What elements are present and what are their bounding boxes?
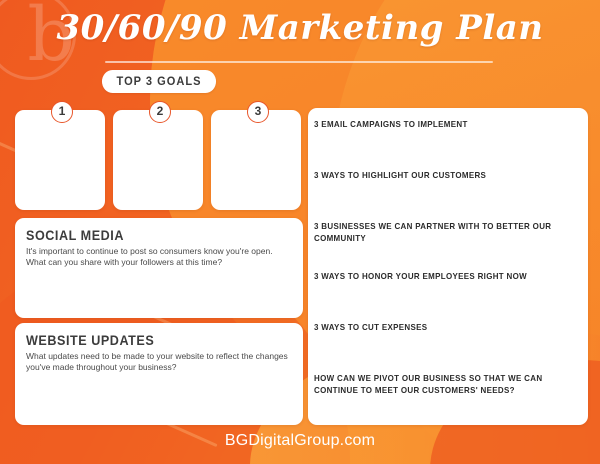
- website-updates-title: WEBSITE UPDATES: [26, 332, 275, 348]
- prompt-item: 3 BUSINESSES WE CAN PARTNER WITH TO BETT…: [314, 220, 565, 244]
- footer-website: BGDigitalGroup.com: [0, 432, 600, 450]
- prompt-item: 3 WAYS TO CUT EXPENSES: [314, 321, 565, 333]
- goal-number-badge-2: 2: [149, 101, 171, 123]
- website-updates-description: What updates need to be made to your web…: [26, 351, 292, 373]
- marketing-plan-poster: b 30/60/90 Marketing Plan TOP 3 GOALS 1 …: [0, 0, 600, 464]
- website-updates-panel[interactable]: WEBSITE UPDATES What updates need to be …: [15, 323, 303, 425]
- prompt-item: 3 WAYS TO HIGHLIGHT OUR CUSTOMERS: [314, 169, 565, 181]
- title-divider: [105, 61, 493, 63]
- goal-box-2[interactable]: [113, 110, 203, 210]
- prompt-item: HOW CAN WE PIVOT OUR BUSINESS SO THAT WE…: [314, 372, 565, 396]
- goal-number-badge-1: 1: [51, 101, 73, 123]
- prompts-panel[interactable]: 3 EMAIL CAMPAIGNS TO IMPLEMENT 3 WAYS TO…: [308, 108, 588, 425]
- social-media-title: SOCIAL MEDIA: [26, 227, 275, 243]
- page-title: 30/60/90 Marketing Plan: [0, 8, 600, 48]
- prompt-item: 3 WAYS TO HONOR YOUR EMPLOYEES RIGHT NOW: [314, 270, 565, 282]
- prompt-item: 3 EMAIL CAMPAIGNS TO IMPLEMENT: [314, 118, 565, 130]
- goal-box-3[interactable]: [211, 110, 301, 210]
- social-media-panel[interactable]: SOCIAL MEDIA It's important to continue …: [15, 218, 303, 318]
- goal-box-1[interactable]: [15, 110, 105, 210]
- goal-number-badge-3: 3: [247, 101, 269, 123]
- social-media-description: It's important to continue to post so co…: [26, 246, 292, 268]
- top-goals-badge: TOP 3 GOALS: [102, 70, 216, 93]
